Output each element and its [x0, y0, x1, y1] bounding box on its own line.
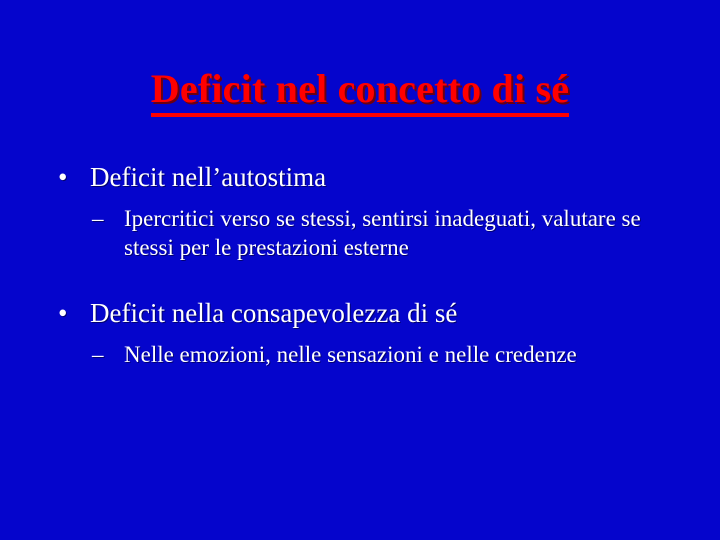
- page-title: Deficit nel concetto di sé: [151, 66, 569, 117]
- bullet-item-level2: – Nelle emozioni, nelle sensazioni e nel…: [52, 340, 684, 369]
- bullet-dash-icon: –: [92, 204, 116, 233]
- bullet-dot-icon: •: [58, 296, 80, 330]
- bullet-item-level1-label: Deficit nell’autostima: [90, 162, 326, 192]
- bullet-item-level1: • Deficit nell’autostima: [52, 160, 684, 194]
- slide-body-content: • Deficit nell’autostima – Ipercritici v…: [52, 160, 684, 369]
- bullet-item-level1: • Deficit nella consapevolezza di sé: [52, 296, 684, 330]
- presentation-slide: Deficit nel concetto di sé • Deficit nel…: [0, 0, 720, 540]
- bullet-group: • Deficit nella consapevolezza di sé – N…: [52, 296, 684, 369]
- bullet-group: • Deficit nell’autostima – Ipercritici v…: [52, 160, 684, 262]
- bullet-item-level1-label: Deficit nella consapevolezza di sé: [90, 298, 457, 328]
- bullet-item-level2-label: Ipercritici verso se stessi, sentirsi in…: [124, 204, 684, 262]
- bullet-item-level2: – Ipercritici verso se stessi, sentirsi …: [52, 204, 684, 262]
- bullet-dot-icon: •: [58, 160, 80, 194]
- bullet-item-level2-label: Nelle emozioni, nelle sensazioni e nelle…: [124, 340, 684, 369]
- bullet-dash-icon: –: [92, 340, 116, 369]
- slide-title-container: Deficit nel concetto di sé: [0, 66, 720, 117]
